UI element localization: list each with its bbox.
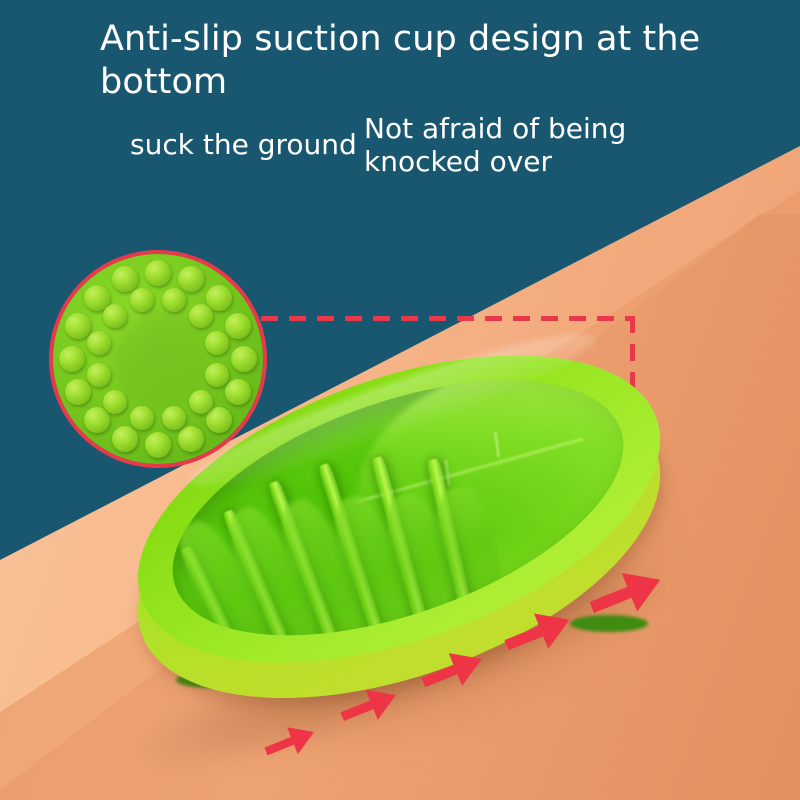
callout-dashed-line-horizontal xyxy=(261,316,633,321)
suction-cup-nub xyxy=(112,266,138,292)
suction-cup-nub xyxy=(87,331,111,355)
suction-cup-nub xyxy=(59,346,85,372)
suction-cup-nub xyxy=(189,304,213,328)
suction-cup-nub xyxy=(162,288,186,312)
product-image-canvas: Anti-slip suction cup design at the bott… xyxy=(0,0,800,800)
suction-cup-nub xyxy=(225,313,251,339)
subtitle-not-knocked-over: Not afraid of being knocked over xyxy=(364,112,664,178)
subtitle-suck-the-ground: suck the ground xyxy=(130,128,357,161)
suction-cup-nub xyxy=(87,363,111,387)
suction-cup-nub xyxy=(103,304,127,328)
slow-feeder-bowl xyxy=(118,372,680,712)
suction-cup-nub xyxy=(65,313,91,339)
suction-cup-nub xyxy=(231,346,257,372)
suction-cup-nub xyxy=(145,260,171,286)
suction-cup-nub xyxy=(130,288,154,312)
suction-cup-nub xyxy=(65,379,91,405)
headline-text: Anti-slip suction cup design at the bott… xyxy=(100,18,740,103)
suction-cup-nub xyxy=(205,331,229,355)
suction-cup-nub xyxy=(178,266,204,292)
